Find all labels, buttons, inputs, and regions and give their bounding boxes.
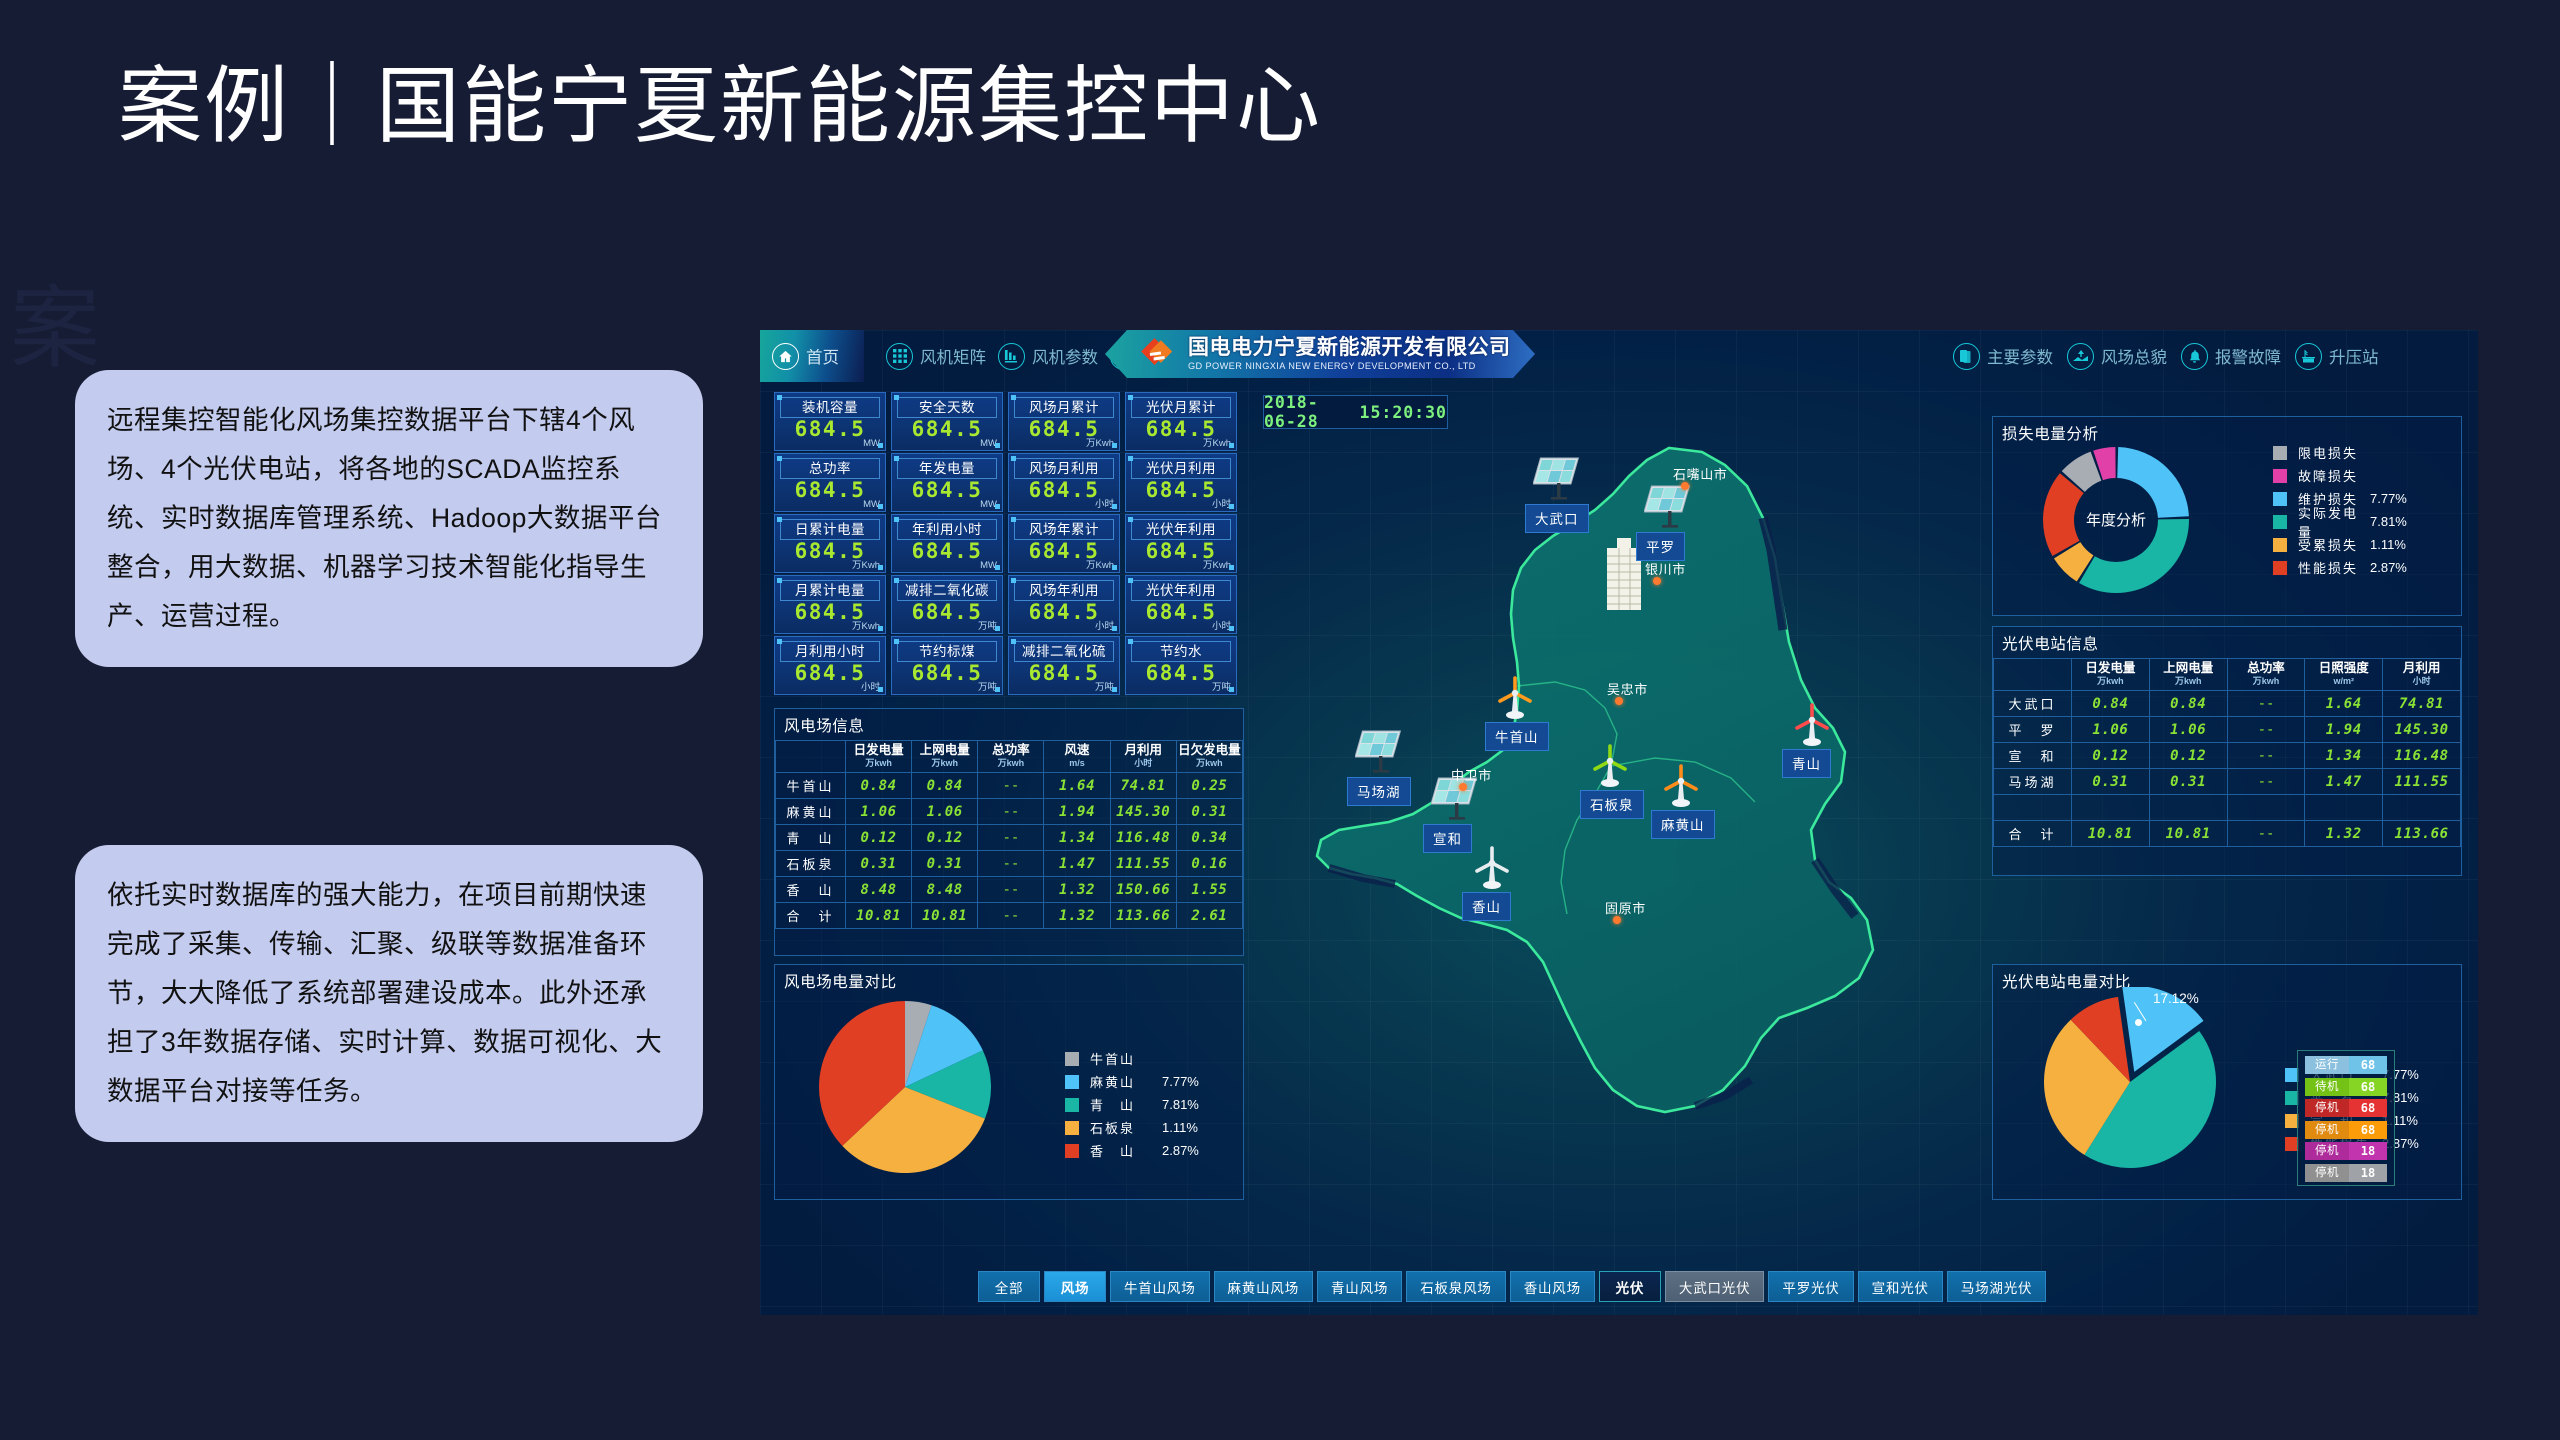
legend-item[interactable]: 故障损失 [2273, 464, 2407, 487]
table-row: 合 计10.8110.81--1.32113.66 [1994, 821, 2461, 847]
map-city-label: 石嘴山市 [1673, 464, 1727, 483]
legend-label: 限电损失 [2298, 443, 2358, 462]
table-row: 大武口0.840.84--1.6474.81 [1994, 691, 2461, 717]
table-header-cell [776, 741, 846, 773]
filter-tab[interactable]: 马场湖光伏 [1947, 1271, 2047, 1302]
table-data-cell: 0.31 [846, 851, 912, 877]
table-data-cell: 0.12 [846, 825, 912, 851]
kpi-unit: MW [980, 438, 997, 449]
table-row: 麻黄山1.061.06--1.94145.300.31 [776, 799, 1243, 825]
kpi-column-1: 安全天数684.5MW年发电量684.5MW年利用小时684.5MW减排二氧化碳… [891, 392, 1003, 697]
kpi-card: 年利用小时684.5MW [891, 514, 1003, 573]
kpi-card: 光伏月累计684.5万Kwh [1125, 392, 1237, 451]
legend-item[interactable]: 限电损失 [2273, 441, 2407, 464]
table-data-cell: 0.34 [1176, 825, 1242, 851]
table-data-cell: 10.81 [846, 903, 912, 929]
kpi-unit: 小时 [1212, 496, 1231, 510]
table-data-cell: 1.34 [1044, 825, 1110, 851]
table-data-cell: 74.81 [1110, 773, 1176, 799]
legend-value: 2.87% [1162, 1143, 1199, 1158]
pie-slice [2079, 519, 2189, 593]
table-header-cell: 总功率万kwh [978, 741, 1044, 773]
pv-station-info-table: 日发电量万kwh上网电量万kwh总功率万kwh日照强度w/m²月利用小时大武口0… [1993, 658, 2461, 847]
pie-annotation-dot [2135, 1019, 2142, 1026]
kpi-unit: 小时 [1212, 618, 1231, 632]
kpi-card: 风场年利用684.5小时 [1008, 575, 1120, 634]
kpi-unit: 万Kwh [852, 618, 880, 632]
legend-label: 石板泉 [1090, 1118, 1150, 1137]
site-filter-tabbar[interactable]: 全部风场牛首山风场麻黄山风场青山风场石板泉风场香山风场光伏大武口光伏平罗光伏宣和… [978, 1271, 2046, 1302]
pv-pie-svg [2035, 987, 2225, 1177]
kpi-title: 日累计电量 [780, 519, 880, 540]
table-data-cell: -- [978, 825, 1044, 851]
solar-panel-icon [1644, 484, 1696, 533]
table-data-cell: 113.66 [2383, 821, 2461, 847]
kpi-card: 风场月累计684.5万Kwh [1008, 392, 1120, 451]
loss-donut-legend: 限电损失故障损失维护损失7.77%实际发电量7.81%受累损失1.11%性能损失… [2273, 441, 2407, 579]
table-header-cell: 日照强度w/m² [2305, 659, 2383, 691]
table-data-cell: 111.55 [1110, 851, 1176, 877]
kpi-card: 减排二氧化碳684.5万吨 [891, 575, 1003, 634]
legend-swatch [1065, 1098, 1079, 1112]
status-label: 停机 [2305, 1099, 2349, 1117]
table-data-cell: 1.64 [1044, 773, 1110, 799]
table-data-cell: -- [978, 773, 1044, 799]
kpi-unit: 万Kwh [1086, 557, 1114, 571]
table-header-cell [1994, 659, 2072, 691]
wind-turbine-icon [1588, 742, 1632, 795]
table-header-cell: 日发电量万kwh [2072, 659, 2150, 691]
kpi-title: 光伏月累计 [1131, 397, 1231, 418]
table-data-cell: 0.84 [2149, 691, 2227, 717]
table-data-cell: 10.81 [2072, 821, 2150, 847]
table-data-cell: -- [2227, 717, 2305, 743]
table-data-cell: 1.55 [1176, 877, 1242, 903]
table-data-cell [2149, 795, 2227, 821]
table-data-cell: 0.12 [912, 825, 978, 851]
nav-item-home[interactable]: 首页 [760, 330, 864, 382]
kpi-unit: MW [980, 499, 997, 510]
row-label-cell: 马场湖 [1994, 769, 2072, 795]
table-data-cell: 10.81 [912, 903, 978, 929]
kpi-title: 装机容量 [780, 397, 880, 418]
legend-swatch [2273, 469, 2287, 483]
kpi-card: 日累计电量684.5万Kwh [774, 514, 886, 573]
legend-value: 7.81% [2370, 514, 2407, 529]
kpi-title: 减排二氧化碳 [897, 580, 997, 601]
legend-item[interactable]: 麻黄山7.77% [1065, 1070, 1199, 1093]
kpi-unit: 小时 [1095, 496, 1114, 510]
nav-item-farm-overview[interactable]: 风场总貌 [2067, 330, 2167, 382]
kpi-unit: MW [863, 438, 880, 449]
map-city-label: 银川市 [1645, 559, 1686, 578]
solar-panel-icon [1355, 729, 1407, 778]
table-data-cell: 2.61 [1176, 903, 1242, 929]
table-row: 平 罗1.061.06--1.94145.30 [1994, 717, 2461, 743]
legend-label: 性能损失 [2298, 558, 2358, 577]
table-data-cell [2305, 795, 2383, 821]
row-label-cell: 青 山 [776, 825, 846, 851]
nav-label-alarm-fault: 报警故障 [2215, 344, 2281, 368]
table-data-cell: 1.32 [2305, 821, 2383, 847]
status-legend-row: 停机18 [2305, 1164, 2387, 1182]
loss-analysis-panel: 损失电量分析 年度分析 限电损失故障损失维护损失7.77%实际发电量7.81%受… [1992, 416, 2462, 616]
table-data-cell [2383, 795, 2461, 821]
legend-swatch [1065, 1052, 1079, 1066]
table-data-cell: -- [978, 903, 1044, 929]
nav-label-substation: 升压站 [2329, 344, 2379, 368]
table-data-cell: 1.34 [2305, 743, 2383, 769]
kpi-title: 月利用小时 [780, 641, 880, 662]
company-logo-icon [1137, 337, 1177, 371]
wind-turbine-icon [1659, 762, 1703, 815]
table-data-cell: 150.66 [1110, 877, 1176, 903]
table-data-cell: -- [2227, 821, 2305, 847]
table-row [1994, 795, 2461, 821]
kpi-title: 风场年累计 [1014, 519, 1114, 540]
wind-pie-svg [817, 999, 993, 1175]
table-data-cell: 0.84 [2072, 691, 2150, 717]
substation-icon [2295, 343, 2322, 370]
table-row: 青 山0.120.12--1.34116.480.34 [776, 825, 1243, 851]
table-data-cell: 0.31 [1176, 799, 1242, 825]
row-label-cell: 香 山 [776, 877, 846, 903]
filter-tab[interactable]: 风场 [1044, 1271, 1106, 1302]
map-site-label[interactable]: 麻黄山 [1651, 810, 1715, 839]
donut-center-label: 年度分析 [2086, 512, 2146, 529]
kpi-title: 光伏年利用 [1131, 580, 1231, 601]
table-data-cell: 0.31 [2149, 769, 2227, 795]
wind-farm-info-title: 风电场信息 [775, 709, 1243, 740]
filter-tab[interactable]: 青山风场 [1317, 1271, 1402, 1302]
kpi-title: 年利用小时 [897, 519, 997, 540]
kpi-unit: 小时 [861, 679, 880, 693]
pie-slice [2043, 473, 2084, 556]
table-data-cell: 145.30 [1110, 799, 1176, 825]
status-legend-row: 停机68 [2305, 1099, 2387, 1117]
nav-item-turbine-params[interactable]: 风机参数 [998, 330, 1098, 382]
kpi-card: 光伏年利用684.5小时 [1125, 575, 1237, 634]
row-label-cell: 石板泉 [776, 851, 846, 877]
map-site-label[interactable]: 宣和 [1423, 824, 1472, 853]
table-data-cell: 74.81 [2383, 691, 2461, 717]
kpi-unit: 万吨 [1212, 679, 1231, 693]
legend-swatch [1065, 1121, 1079, 1135]
grid-icon [886, 343, 913, 370]
map-site-label[interactable]: 香山 [1462, 892, 1511, 921]
table-header-cell: 月利用小时 [1110, 741, 1176, 773]
row-label-cell: 牛首山 [776, 773, 846, 799]
table-header-cell: 上网电量万kwh [2149, 659, 2227, 691]
table-header-cell: 风速m/s [1044, 741, 1110, 773]
map-site-label[interactable]: 石板泉 [1580, 790, 1644, 819]
kpi-title: 年发电量 [897, 458, 997, 479]
legend-swatch [1065, 1144, 1079, 1158]
table-data-cell: 113.66 [1110, 903, 1176, 929]
wind-farm-info-table: 日发电量万kwh上网电量万kwh总功率万kwh风速m/s月利用小时日欠发电量万k… [775, 740, 1243, 929]
table-data-cell: 1.94 [1044, 799, 1110, 825]
table-data-cell: 0.12 [2072, 743, 2150, 769]
map-site-label[interactable]: 牛首山 [1485, 722, 1549, 751]
status-label: 停机 [2305, 1121, 2349, 1139]
kpi-column-3: 光伏月累计684.5万Kwh光伏月利用684.5小时光伏年利用684.5万Kwh… [1125, 392, 1237, 697]
filter-tab[interactable]: 平罗光伏 [1768, 1271, 1853, 1302]
legend-swatch [2273, 561, 2287, 575]
status-label: 停机 [2305, 1142, 2349, 1160]
row-label-cell: 合 计 [1994, 821, 2072, 847]
legend-item[interactable]: 石板泉1.11% [1065, 1116, 1199, 1139]
nav-label-turbine-matrix: 风机矩阵 [920, 344, 986, 368]
kpi-title: 光伏月利用 [1131, 458, 1231, 479]
home-icon [772, 343, 799, 370]
table-data-cell: -- [2227, 769, 2305, 795]
map-city-dot [1613, 916, 1621, 924]
wind-turbine-icon [1493, 674, 1537, 727]
table-data-cell [2072, 795, 2150, 821]
kpi-card: 节约水684.5万吨 [1125, 636, 1237, 695]
table-data-cell: 1.06 [2149, 717, 2227, 743]
kpi-unit: MW [980, 560, 997, 571]
filter-tab[interactable]: 全部 [978, 1271, 1040, 1302]
map-city-dot [1459, 783, 1467, 791]
callout-bubble-2: 依托实时数据库的强大能力，在项目前期快速完成了采集、传输、汇聚、级联等数据准备环… [75, 845, 703, 1142]
pv-station-info-panel: 光伏电站信息 日发电量万kwh上网电量万kwh总功率万kwh日照强度w/m²月利… [1992, 626, 2462, 876]
kpi-title: 风场月利用 [1014, 458, 1114, 479]
status-label: 运行 [2305, 1056, 2349, 1074]
dashboard-screenshot: 首页 风机矩阵 [760, 330, 2478, 1315]
filter-tab[interactable]: 麻黄山风场 [1214, 1271, 1314, 1302]
company-name-en: GD POWER NINGXIA NEW ENERGY DEVELOPMENT … [1188, 361, 1511, 371]
table-data-cell: -- [2227, 743, 2305, 769]
legend-value: 1.11% [1162, 1120, 1198, 1135]
pie-slice [2117, 447, 2189, 518]
callout-bubble-1: 远程集控智能化风场集控数据平台下辖4个风场、4个光伏电站，将各地的SCADA监控… [75, 370, 703, 667]
ningxia-map[interactable]: 2018-06-28 15:20:30 [1255, 390, 1990, 1245]
table-data-cell: 0.31 [2072, 769, 2150, 795]
wind-pie-title: 风电场电量对比 [775, 965, 1243, 996]
table-data-cell: 10.81 [2149, 821, 2227, 847]
map-site-label[interactable]: 青山 [1782, 749, 1831, 778]
table-data-cell: 145.30 [2383, 717, 2461, 743]
status-label: 待机 [2305, 1078, 2349, 1096]
map-city-label: 固原市 [1605, 898, 1646, 917]
kpi-unit: 万Kwh [1203, 435, 1231, 449]
row-label-cell: 大武口 [1994, 691, 2072, 717]
map-city-dot [1681, 482, 1689, 490]
table-row: 香 山8.488.48--1.32150.661.55 [776, 877, 1243, 903]
legend-item[interactable]: 实际发电量7.81% [2273, 510, 2407, 533]
status-value: 18 [2349, 1164, 2387, 1182]
legend-label: 故障损失 [2298, 466, 2358, 485]
kpi-title: 减排二氧化硫 [1014, 641, 1114, 662]
row-label-cell [1994, 795, 2072, 821]
kpi-title: 月累计电量 [780, 580, 880, 601]
map-city-dot [1615, 697, 1623, 705]
status-legend-row: 停机18 [2305, 1142, 2387, 1160]
legend-label: 牛首山 [1090, 1049, 1150, 1068]
kpi-card: 月累计电量684.5万Kwh [774, 575, 886, 634]
kpi-card: 装机容量684.5MW [774, 392, 886, 451]
legend-swatch [2273, 515, 2287, 529]
table-data-cell: 0.31 [912, 851, 978, 877]
status-legend-row: 待机68 [2305, 1078, 2387, 1096]
kpi-unit: 万吨 [1095, 679, 1114, 693]
kpi-unit: 万吨 [978, 679, 997, 693]
nav-label-turbine-params: 风机参数 [1032, 344, 1098, 368]
legend-value: 2.87% [2370, 560, 2407, 575]
table-data-cell: 1.06 [846, 799, 912, 825]
kpi-title: 风场月累计 [1014, 397, 1114, 418]
kpi-title: 光伏年利用 [1131, 519, 1231, 540]
wind-farm-info-panel: 风电场信息 日发电量万kwh上网电量万kwh总功率万kwh风速m/s月利用小时日… [774, 708, 1244, 956]
wind-turbine-icon [1470, 844, 1514, 897]
wind-pie-legend: 牛首山麻黄山7.77%青 山7.81%石板泉1.11%香 山2.87% [1065, 1047, 1199, 1162]
pv-station-info-title: 光伏电站信息 [1993, 627, 2461, 658]
table-data-cell: 1.32 [1044, 903, 1110, 929]
legend-item[interactable]: 牛首山 [1065, 1047, 1199, 1070]
solar-panel-icon [1533, 456, 1585, 505]
nav-item-turbine-matrix[interactable]: 风机矩阵 [886, 330, 986, 382]
status-value: 68 [2349, 1078, 2387, 1096]
page-title: 案例｜国能宁夏新能源集控中心 [118, 58, 1322, 155]
legend-item[interactable]: 香 山2.87% [1065, 1139, 1199, 1162]
kpi-card: 月利用小时684.5小时 [774, 636, 886, 695]
decorative-ghost-character: 案 [10, 255, 100, 385]
table-row: 马场湖0.310.31--1.47111.55 [1994, 769, 2461, 795]
loss-donut-chart: 年度分析 [2041, 445, 2191, 600]
legend-swatch [2273, 446, 2287, 460]
map-site-label[interactable]: 平罗 [1636, 532, 1685, 561]
wind-turbine-icon [1790, 701, 1834, 754]
nav-label-home: 首页 [806, 344, 839, 368]
legend-swatch [2273, 492, 2287, 506]
loss-donut-svg: 年度分析 [2041, 445, 2191, 595]
status-value: 68 [2349, 1121, 2387, 1139]
filter-tab[interactable]: 牛首山风场 [1110, 1271, 1210, 1302]
kpi-title: 节约水 [1131, 641, 1231, 662]
turbine-status-legend: 运行68待机68停机68停机68停机18停机18 [2297, 1050, 2395, 1186]
kpi-card: 节约标煤684.5万吨 [891, 636, 1003, 695]
table-data-cell: 0.84 [846, 773, 912, 799]
status-legend-row: 停机68 [2305, 1121, 2387, 1139]
table-data-cell: 1.94 [2305, 717, 2383, 743]
table-data-cell [2227, 795, 2305, 821]
pv-pie-chart: 17.12% [2035, 987, 2225, 1182]
kpi-card: 总功率684.5MW [774, 453, 886, 512]
legend-label: 香 山 [1090, 1141, 1150, 1160]
company-logo-banner: 国电电力宁夏新能源开发有限公司 GD POWER NINGXIA NEW ENE… [1105, 330, 1535, 378]
table-row: 宣 和0.120.12--1.34116.48 [1994, 743, 2461, 769]
status-label: 停机 [2305, 1164, 2349, 1182]
status-value: 18 [2349, 1142, 2387, 1160]
legend-value: 1.11% [2370, 537, 2406, 552]
filter-tab[interactable]: 大武口光伏 [1665, 1271, 1765, 1302]
status-value: 68 [2349, 1099, 2387, 1117]
table-data-cell: -- [978, 851, 1044, 877]
row-label-cell: 麻黄山 [776, 799, 846, 825]
documents-icon [1953, 343, 1980, 370]
status-legend-row: 运行68 [2305, 1056, 2387, 1074]
company-name-block: 国电电力宁夏新能源开发有限公司 GD POWER NINGXIA NEW ENE… [1188, 337, 1511, 371]
legend-value: 7.77% [1162, 1074, 1199, 1089]
kpi-title: 安全天数 [897, 397, 997, 418]
nav-label-main-params: 主要参数 [1987, 344, 2053, 368]
map-site-label[interactable]: 马场湖 [1347, 777, 1411, 806]
company-name-cn: 国电电力宁夏新能源开发有限公司 [1188, 337, 1511, 358]
filter-tab[interactable]: 香山风场 [1510, 1271, 1595, 1302]
table-data-cell: 1.06 [912, 799, 978, 825]
legend-swatch [2273, 538, 2287, 552]
kpi-card: 减排二氧化硫684.5万吨 [1008, 636, 1120, 695]
nav-label-farm-overview: 风场总貌 [2101, 344, 2167, 368]
status-value: 68 [2349, 1056, 2387, 1074]
kpi-unit: 万Kwh [852, 557, 880, 571]
kpi-column-2: 风场月累计684.5万Kwh风场月利用684.5小时风场年累计684.5万Kwh… [1008, 392, 1120, 697]
kpi-card: 年发电量684.5MW [891, 453, 1003, 512]
table-data-cell: 116.48 [2383, 743, 2461, 769]
kpi-card: 风场月利用684.5小时 [1008, 453, 1120, 512]
filter-tab[interactable]: 石板泉风场 [1406, 1271, 1506, 1302]
table-data-cell: 8.48 [912, 877, 978, 903]
row-label-cell: 平 罗 [1994, 717, 2072, 743]
kpi-unit: 万Kwh [1086, 435, 1114, 449]
table-data-cell: 1.06 [2072, 717, 2150, 743]
bell-icon [2181, 343, 2208, 370]
map-site-label[interactable]: 大武口 [1525, 504, 1589, 533]
bar-chart-icon [998, 343, 1025, 370]
legend-item[interactable]: 青 山7.81% [1065, 1093, 1199, 1116]
table-row: 石板泉0.310.31--1.47111.550.16 [776, 851, 1243, 877]
map-city-dot [1653, 577, 1661, 585]
table-data-cell: -- [2227, 691, 2305, 717]
map-city-label: 中卫市 [1451, 765, 1492, 784]
table-data-cell: 0.84 [912, 773, 978, 799]
kpi-unit: 小时 [1095, 618, 1114, 632]
legend-item[interactable]: 受累损失1.11% [2273, 533, 2407, 556]
kpi-title: 总功率 [780, 458, 880, 479]
row-label-cell: 宣 和 [1994, 743, 2072, 769]
table-data-cell: 1.47 [1044, 851, 1110, 877]
filter-tab[interactable]: 光伏 [1599, 1271, 1661, 1302]
table-data-cell: 0.16 [1176, 851, 1242, 877]
table-row: 牛首山0.840.84--1.6474.810.25 [776, 773, 1243, 799]
legend-value: 7.81% [1162, 1097, 1199, 1112]
kpi-unit: 万Kwh [1203, 557, 1231, 571]
table-header-cell: 日发电量万kwh [846, 741, 912, 773]
wind-pie-chart [817, 999, 993, 1180]
row-label-cell: 合 计 [776, 903, 846, 929]
table-data-cell: 1.32 [1044, 877, 1110, 903]
kpi-title: 节约标煤 [897, 641, 997, 662]
kpi-title: 风场年利用 [1014, 580, 1114, 601]
kpi-unit: MW [863, 499, 880, 510]
kpi-card: 光伏月利用684.5小时 [1125, 453, 1237, 512]
nav-item-substation[interactable]: 升压站 [2295, 330, 2379, 382]
nav-item-alarm-fault[interactable]: 报警故障 [2181, 330, 2281, 382]
legend-label: 青 山 [1090, 1095, 1150, 1114]
landscape-icon [2067, 343, 2094, 370]
table-data-cell: 0.12 [2149, 743, 2227, 769]
table-header-cell: 总功率万kwh [2227, 659, 2305, 691]
table-header-cell: 上网电量万kwh [912, 741, 978, 773]
filter-tab[interactable]: 宣和光伏 [1858, 1271, 1943, 1302]
legend-label: 麻黄山 [1090, 1072, 1150, 1091]
table-data-cell: 1.64 [2305, 691, 2383, 717]
table-data-cell: 8.48 [846, 877, 912, 903]
nav-item-main-params[interactable]: 主要参数 [1953, 330, 2053, 382]
legend-value: 7.77% [2370, 491, 2407, 506]
legend-item[interactable]: 性能损失2.87% [2273, 556, 2407, 579]
